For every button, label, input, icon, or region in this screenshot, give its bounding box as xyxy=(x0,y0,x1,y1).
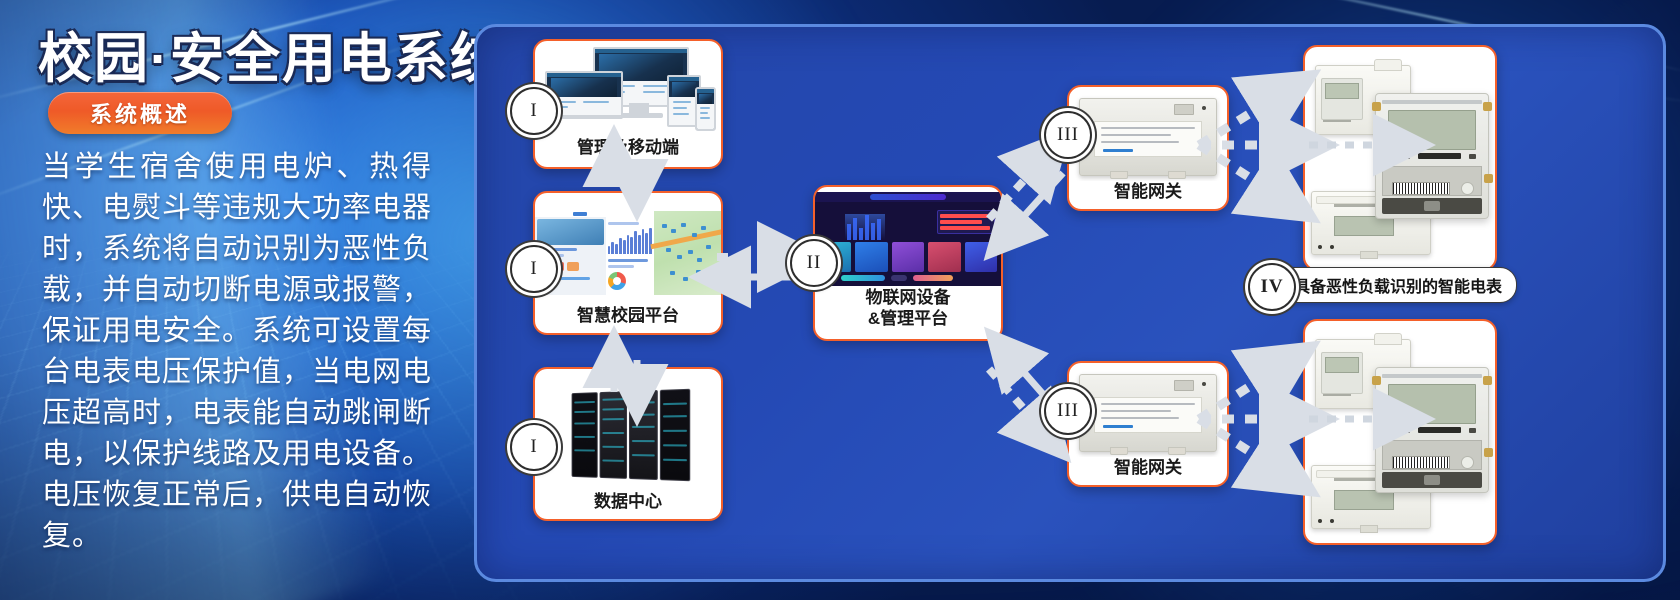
arrow-campus-datacenter xyxy=(614,360,637,392)
section-badge: 系统概述 xyxy=(48,92,232,134)
arrow-gateway-top-meters xyxy=(1199,93,1295,199)
diagram-panel: 管理及移动端 I xyxy=(474,24,1666,582)
connector-layer xyxy=(477,27,1663,579)
marker-meter-group: IV xyxy=(1248,263,1296,311)
arrow-iot-gateway-top xyxy=(989,157,1063,235)
arrow-gateway-bottom-meters xyxy=(1199,365,1295,473)
marker-data-center: I xyxy=(510,423,558,471)
section-badge-label: 系统概述 xyxy=(90,97,190,129)
marker-smart-campus: I xyxy=(510,245,558,293)
intro-description: 当学生宿舍使用电炉、热得快、电熨斗等违规大功率电器时，系统将自动识别为恶性负载，… xyxy=(42,146,432,556)
page-title: 校园·安全用电系统 xyxy=(38,14,506,93)
marker-admin-mobile: I xyxy=(510,87,558,135)
marker-gateway-bottom: III xyxy=(1044,387,1092,435)
arrow-admin-campus xyxy=(614,159,637,187)
meter-group-label-text: 具备恶性负载识别的智能电表 xyxy=(1294,273,1502,297)
intro-column: 校园·安全用电系统 系统概述 当学生宿舍使用电炉、热得快、电熨斗等违规大功率电器… xyxy=(0,0,470,600)
arrow-campus-iot xyxy=(717,257,795,277)
marker-iot-platform: II xyxy=(790,239,838,287)
meter-group-label[interactable]: IV 具备恶性负载识别的智能电表 xyxy=(1249,267,1517,303)
marker-gateway-top: III xyxy=(1044,111,1092,159)
